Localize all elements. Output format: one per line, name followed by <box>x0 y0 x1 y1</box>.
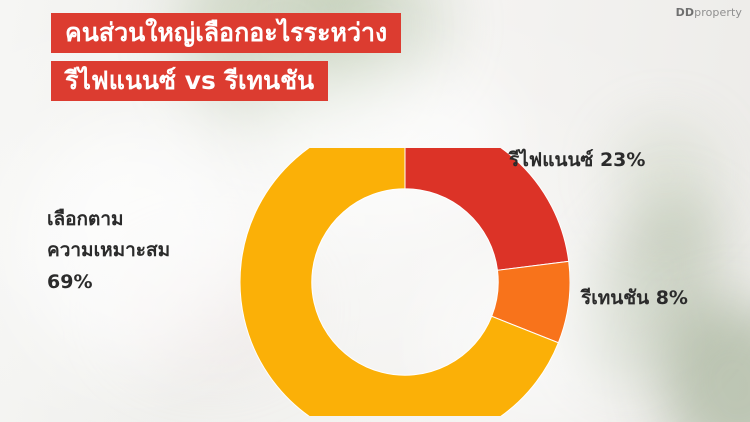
headline-text-line-2: รีไฟแนนซ์ vs รีเทนชัน <box>65 61 314 101</box>
headline-text-line-1: คนส่วนใหญ่เลือกอะไรระหว่าง <box>65 13 387 53</box>
watermark-light-text: property <box>694 6 742 19</box>
headline-banner-line-2: รีไฟแนนซ์ vs รีเทนชัน <box>51 61 328 101</box>
label-refinance: รีไฟแนนซ์ 23% <box>509 145 645 176</box>
label-majority: เลือกตาม ความเหมาะสม 69% <box>47 204 237 298</box>
donut-chart <box>240 148 570 416</box>
watermark-ddproperty: DDproperty <box>676 6 742 19</box>
headline-banner-line-1: คนส่วนใหญ่เลือกอะไรระหว่าง <box>51 13 401 53</box>
infographic-canvas: DDproperty คนส่วนใหญ่เลือกอะไรระหว่าง รี… <box>0 0 750 422</box>
watermark-bold-text: DD <box>676 6 694 19</box>
donut-chart-svg <box>240 148 570 416</box>
label-majority-line-2: ความเหมาะสม <box>47 235 237 266</box>
label-majority-line-1: เลือกตาม <box>47 204 237 235</box>
donut-slice-group <box>240 148 570 416</box>
label-retention: รีเทนชัน 8% <box>581 283 688 314</box>
label-majority-line-3: 69% <box>47 267 237 298</box>
